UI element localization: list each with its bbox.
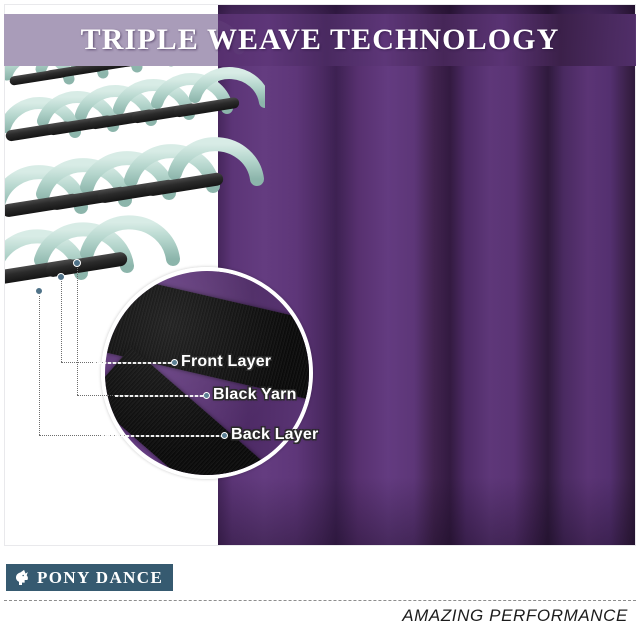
callout-label-back: Back Layer xyxy=(231,426,318,444)
callout-label-front: Front Layer xyxy=(181,353,271,371)
curtain-bottom-shadow xyxy=(218,477,636,546)
anchor-dot-yarn xyxy=(73,259,81,267)
magnifier-circle xyxy=(101,267,313,479)
brand-logo: PONY DANCE xyxy=(6,564,173,591)
callout-dot-back xyxy=(221,432,228,439)
anchor-dot-front xyxy=(57,273,65,281)
callout-black-yarn: Black Yarn xyxy=(203,386,297,404)
ring-row-mid xyxy=(5,73,265,142)
brand-name: PONY DANCE xyxy=(37,568,163,588)
callout-front-layer: Front Layer xyxy=(171,353,271,371)
product-marketing-image: Front Layer Black Yarn Back Layer TRIPLE… xyxy=(0,0,640,626)
callout-dot-yarn xyxy=(203,392,210,399)
magnifier-gloss xyxy=(105,271,309,475)
guide-line-front-vertical xyxy=(61,277,62,362)
leader-line-front xyxy=(93,362,173,364)
leader-line-yarn xyxy=(115,395,205,397)
ring-row-front xyxy=(5,144,257,218)
callout-label-yarn: Black Yarn xyxy=(213,386,297,404)
callout-back-layer: Back Layer xyxy=(221,426,318,444)
footer-tagline: AMAZING PERFORMANCE xyxy=(402,606,628,626)
header-banner: TRIPLE WEAVE TECHNOLOGY xyxy=(4,14,636,66)
callout-dot-front xyxy=(171,359,178,366)
horse-head-icon xyxy=(12,568,32,588)
guide-line-yarn-vertical xyxy=(77,263,78,395)
footer-divider xyxy=(4,600,636,601)
magnifier-fabric xyxy=(105,271,309,475)
guide-line-back-vertical xyxy=(39,291,40,435)
product-photo-panel: Front Layer Black Yarn Back Layer xyxy=(4,4,636,546)
banner-title: TRIPLE WEAVE TECHNOLOGY xyxy=(4,14,636,66)
leader-line-back xyxy=(101,435,223,437)
anchor-dot-back xyxy=(35,287,43,295)
